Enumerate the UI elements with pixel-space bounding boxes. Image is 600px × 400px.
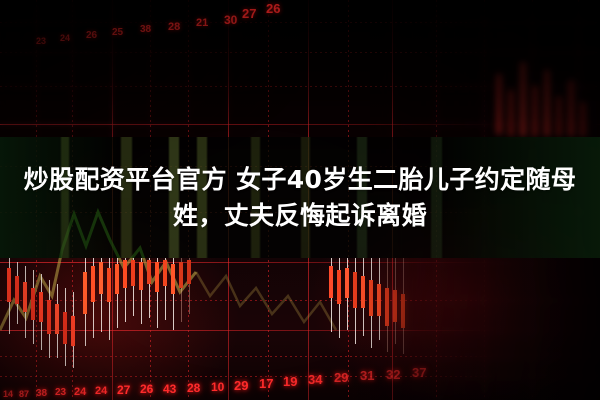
axis-top-tick: 28 [168,21,180,33]
candle-body [91,266,95,302]
axis-bottom-tick: 24 [74,386,86,398]
candle-body [55,304,59,334]
candle-body [508,90,514,136]
candle-body [556,96,562,136]
axis-bottom-tick: 87 [19,389,29,399]
candle-body [31,288,35,320]
headline-banner: 炒股配资平台官方 女子40岁生二胎儿子约定随母 姓，丈夫反悔起诉离婚 [0,137,600,258]
candle-body [155,262,159,292]
headline-text: 炒股配资平台官方 女子40岁生二胎儿子约定随母 姓，丈夫反悔起诉离婚 [0,137,600,258]
candle-body [15,276,19,304]
candle-body [139,262,143,290]
candle-body [329,266,333,298]
axis-bottom-tick: 37 [412,365,426,380]
candle-body [179,262,183,288]
candle-body [520,62,526,136]
candle-body [63,312,67,344]
candle-body [369,280,373,316]
candle-body [544,70,550,136]
candle-body [337,270,341,304]
candle-body [377,284,381,316]
candle-body [353,272,357,308]
axis-bottom-tick: 17 [259,376,273,391]
axis-bottom-tick: 38 [36,388,47,399]
axis-bottom-tick: 14 [3,389,13,399]
axis-bottom-tick: 10 [211,380,224,394]
axis-top-tick: 25 [112,27,123,38]
axis-bottom-tick: 19 [283,374,297,389]
candle-body [147,260,151,284]
axis-top-tick: 21 [196,17,208,29]
axis-bottom-tick: 24 [95,385,107,397]
axis-top-tick: 23 [36,36,46,46]
axis-top-tick: 26 [266,1,280,16]
axis-bottom-tick: 32 [386,367,400,382]
candle-body [131,260,135,286]
candle-body [361,276,365,308]
candle-body [385,288,389,326]
axis-top-tick: 30 [224,13,237,27]
candle-body [187,260,191,284]
candle-body [107,268,111,302]
axis-top-tick: 27 [242,6,256,21]
candle-body [496,74,502,134]
candle-body [71,316,75,346]
headline-line-2: 姓，丈夫反悔起诉离婚 [173,201,427,231]
headline-line-1: 炒股配资平台官方 女子40岁生二胎儿子约定随母 [24,165,577,195]
axis-bottom-tick: 26 [140,382,153,396]
chart-axis-top: 23 24 26 25 38 28 21 30 27 26 [0,0,600,60]
candle-body [115,264,119,294]
chart-axis-bottom: 14 87 38 23 24 24 27 26 43 28 10 29 17 1… [0,370,600,400]
candle-body [23,282,27,312]
candle-body [532,86,538,136]
candle-body [345,268,349,298]
axis-top-tick: 26 [86,30,97,41]
axis-top-tick: 38 [140,24,151,35]
candle-body [99,262,103,294]
candle-body [7,268,11,302]
candle-body [83,272,87,314]
axis-bottom-tick: 31 [360,368,374,383]
axis-top-tick: 24 [60,33,70,43]
candle-body [580,102,586,136]
axis-bottom-tick: 29 [334,370,348,385]
candle-body [163,260,167,286]
axis-bottom-tick: 29 [234,378,248,393]
candle-body [393,290,397,322]
candle-body [568,80,574,136]
axis-bottom-tick: 34 [308,372,322,387]
candle-body [39,292,43,322]
news-thumbnail-image: 23 24 26 25 38 28 21 30 27 26 14 87 38 2… [0,0,600,400]
candle-body [123,260,127,288]
candle-body [171,264,175,294]
axis-bottom-tick: 43 [163,382,176,396]
axis-bottom-tick: 28 [187,381,200,395]
candle-body [47,300,51,334]
axis-bottom-tick: 27 [117,383,130,397]
candle-body [401,294,405,328]
axis-bottom-tick: 23 [55,387,66,398]
